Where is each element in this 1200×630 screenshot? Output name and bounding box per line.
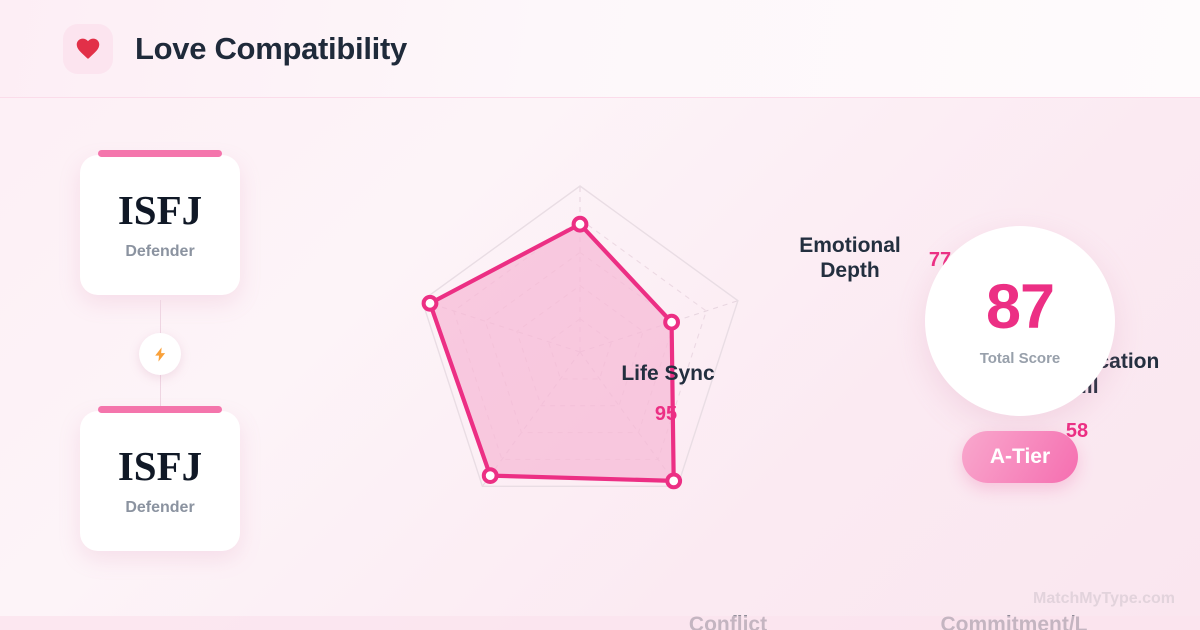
card-accent-bar (98, 406, 222, 413)
axis-label-life-sync: Life Sync (582, 362, 754, 387)
type-code: ISFJ (118, 446, 202, 487)
type-card-person-b[interactable]: ISFJ Defender (80, 411, 240, 551)
total-score-label: Total Score (980, 350, 1061, 367)
total-score-value: 87 (986, 276, 1054, 339)
card-accent-bar (98, 150, 222, 157)
lightning-bolt-icon (139, 333, 181, 375)
radar-data-point (424, 297, 437, 310)
tier-badge-label: A-Tier (990, 445, 1050, 469)
tier-badge: A-Tier (962, 431, 1078, 483)
radar-data-point (574, 218, 587, 231)
type-nickname: Defender (125, 243, 194, 261)
heart-icon (63, 24, 113, 74)
page-title: Love Compatibility (135, 31, 407, 67)
radar-data-point (665, 316, 678, 329)
radar-data-point (484, 469, 497, 482)
type-code: ISFJ (118, 190, 202, 231)
love-compatibility-card: Love Compatibility ISFJ Defender ISFJ De… (0, 0, 1200, 630)
type-nickname: Defender (125, 499, 194, 517)
radar-chart: EmotionalDepth 77 CommunicationWill 58 C… (290, 110, 910, 620)
type-card-person-a[interactable]: ISFJ Defender (80, 155, 240, 295)
header-bar: Love Compatibility (0, 0, 1200, 98)
axis-value-life-sync: 95 (630, 403, 702, 426)
radar-data-point (667, 475, 680, 488)
radar-series-area (430, 224, 674, 481)
total-score-circle: 87 Total Score (925, 226, 1115, 416)
site-watermark: MatchMyType.com (1033, 590, 1175, 608)
bottom-accent-strip (0, 616, 1200, 630)
axis-label-line: Life Sync (582, 362, 754, 387)
